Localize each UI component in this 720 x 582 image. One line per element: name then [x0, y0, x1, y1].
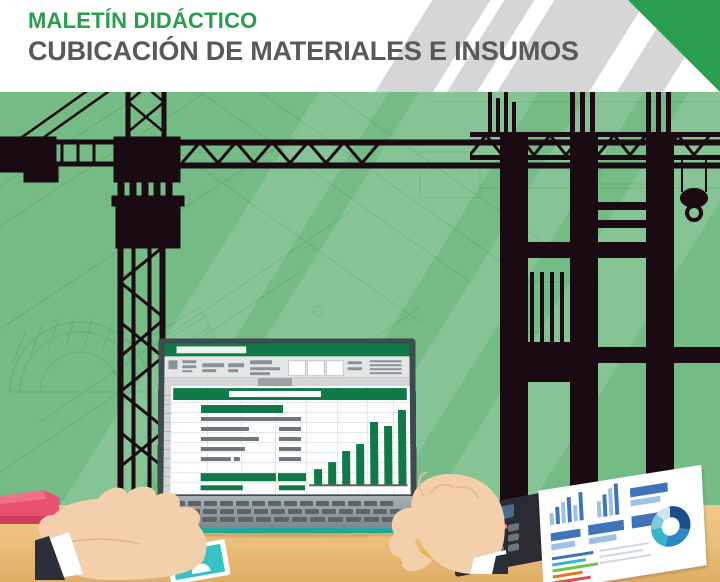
hand-right: [378, 472, 508, 574]
construction-scene: [0, 92, 720, 582]
spreadsheet-grid: [170, 386, 410, 494]
spreadsheet-filename-box: [177, 346, 247, 353]
chart-bar: [342, 451, 350, 484]
title-block: MALETÍN DIDÁCTICO CUBICACIÓN DE MATERIAL…: [28, 10, 579, 65]
chart-bar: [328, 462, 336, 484]
chart-bar: [314, 469, 322, 484]
header-corner-accent: [628, 0, 720, 92]
printed-report: [540, 478, 720, 582]
laptop-screen: [163, 343, 410, 494]
poster-header: MALETÍN DIDÁCTICO CUBICACIÓN DE MATERIAL…: [0, 0, 720, 92]
hand-left: [35, 484, 225, 580]
report-donut-chart: [650, 503, 692, 549]
chart-bar: [356, 444, 364, 484]
poster-image: MALETÍN DIDÁCTICO CUBICACIÓN DE MATERIAL…: [0, 0, 720, 582]
poster-title-sub: CUBICACIÓN DE MATERIALES E INSUMOS: [28, 38, 579, 65]
report-paper: [538, 465, 706, 582]
poster-title-main: MALETÍN DIDÁCTICO: [28, 10, 579, 32]
